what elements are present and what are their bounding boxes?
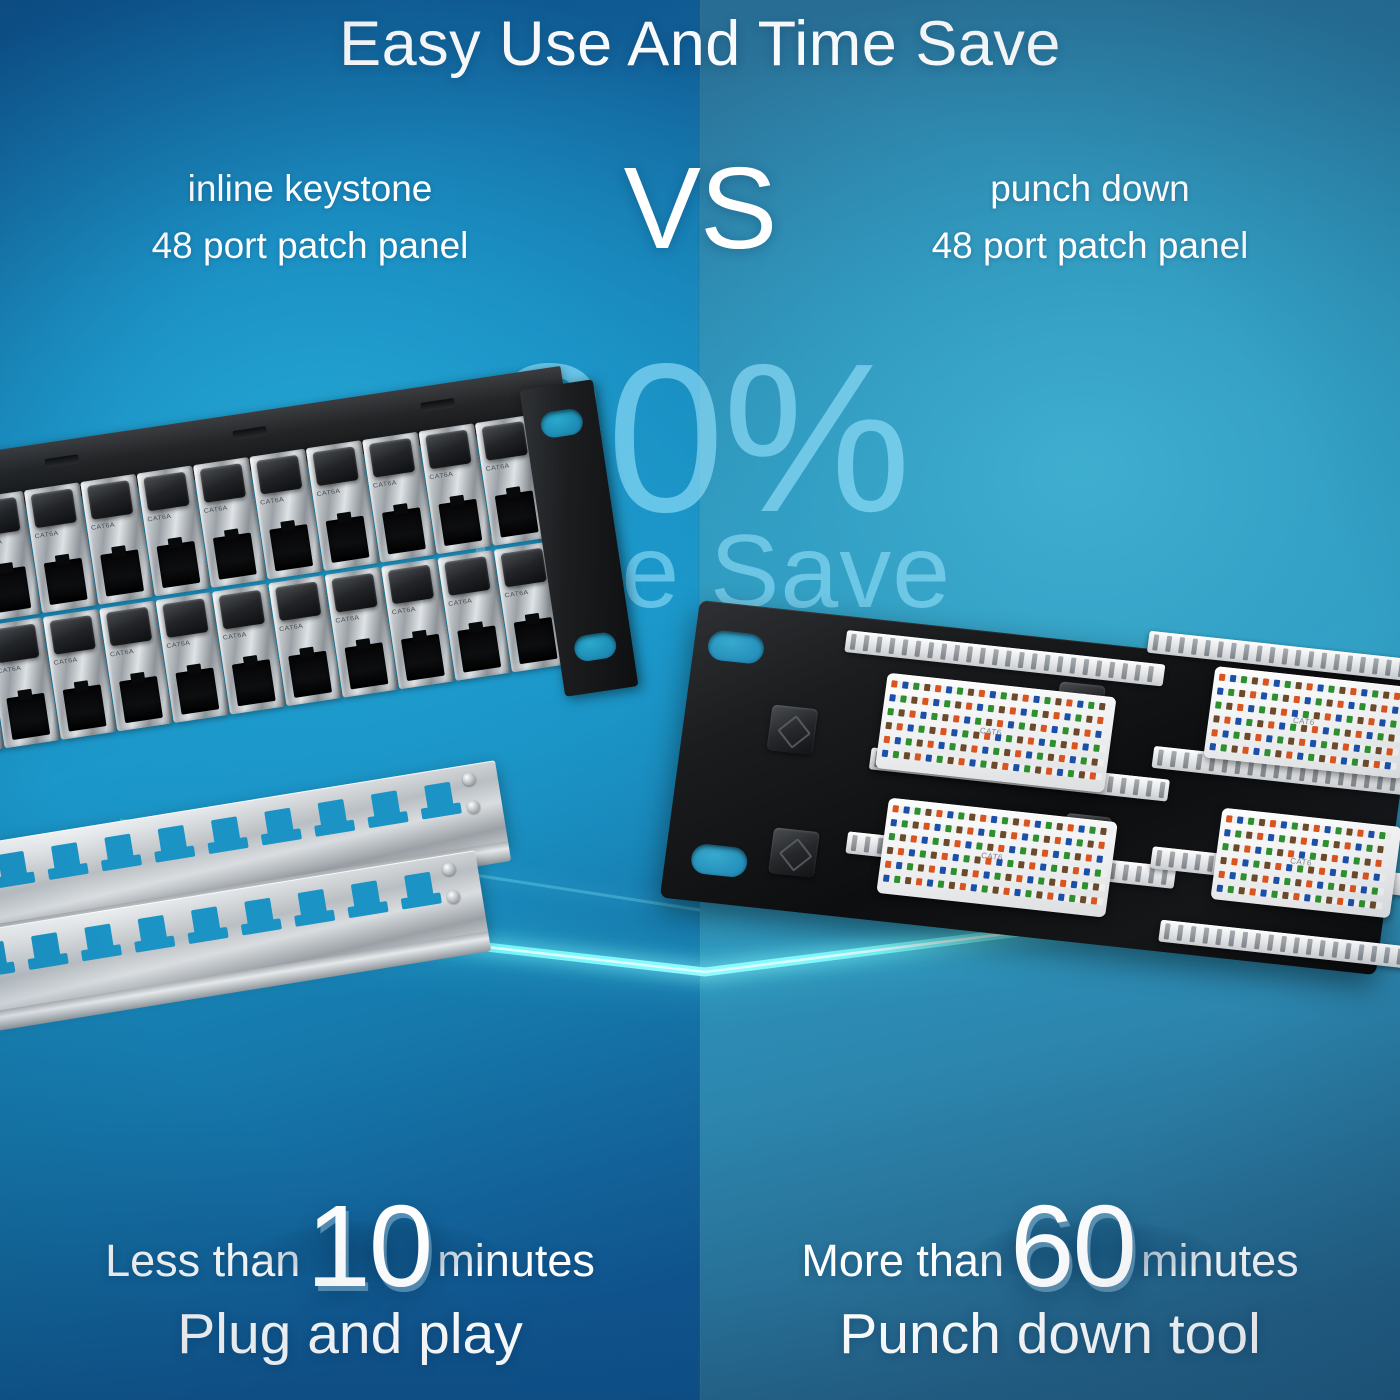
stat-right-number: 60 (1010, 1181, 1135, 1311)
rail-cutout (84, 924, 114, 958)
keystone-jack-port (100, 549, 144, 596)
keystone-jack-tab (219, 590, 266, 630)
keystone-jack-tab (388, 564, 435, 604)
rail-cutout (51, 842, 81, 876)
rail-cutout (244, 898, 274, 932)
keystone-jack-port (6, 693, 50, 740)
keystone-jack-port (495, 490, 539, 537)
keystone-jack-tab (0, 623, 40, 663)
page-title: Easy Use And Time Save (0, 8, 1400, 80)
keystone-jack-port (438, 499, 482, 546)
keystone-jack-port (157, 541, 201, 588)
keystone-jack-port (288, 651, 332, 698)
keystone-jack-tab (162, 598, 209, 638)
right-product-label-line1: punch down (810, 160, 1370, 217)
keystone-jack-port (326, 516, 370, 563)
keystone-jack-port (345, 642, 389, 689)
rail-cutout (138, 915, 168, 949)
keystone-jack-tab (31, 488, 78, 528)
rail-edge (0, 931, 491, 1053)
keystone-jack-tab (312, 446, 359, 486)
punch-down-panel-body: CAT6CAT6CAT6CAT6 (660, 600, 1400, 975)
rail-cutout (317, 799, 347, 833)
keystone-jack-port (232, 659, 276, 706)
left-product-label-line1: inline keystone (30, 160, 590, 217)
left-product-label-line2: 48 port patch panel (30, 217, 590, 274)
product-image-punch-down-panel: CAT6CAT6CAT6CAT6 (700, 600, 1400, 960)
keystone-jack-port (269, 524, 313, 571)
stat-block-right: More than 60 minutes Punch down tool (700, 1185, 1400, 1385)
stat-right-time-line: More than 60 minutes (700, 1185, 1400, 1287)
rail-cutout (297, 889, 327, 923)
rail-cutout (0, 851, 28, 885)
product-image-inline-keystone-panel: CAT6ACAT6ACAT6ACAT6ACAT6ACAT6ACAT6ACAT6A… (0, 470, 720, 1160)
keystone-jack-port (176, 668, 220, 715)
keystone-jack-port (401, 634, 445, 681)
rail-cutout (31, 932, 61, 966)
rail-screw (462, 772, 477, 787)
keystone-jack-tab (143, 472, 190, 512)
keystone-jack-port (457, 625, 501, 672)
rack-mount-slot (706, 629, 766, 665)
right-product-label: punch down 48 port patch panel (810, 160, 1370, 275)
keystone-jack-port (44, 558, 88, 605)
cable-clip (766, 704, 818, 755)
keystone-jack-tab (49, 615, 96, 655)
rail-screw (442, 862, 457, 877)
keystone-jack-tab (200, 463, 247, 503)
vs-label: VS (600, 150, 800, 266)
left-product-label: inline keystone 48 port patch panel (30, 160, 590, 275)
keystone-jack-tab (444, 556, 491, 596)
stat-left-number: 10 (306, 1181, 431, 1311)
rack-mount-slot (689, 843, 749, 879)
keystone-jack-tab (256, 455, 303, 495)
rail-cutout (0, 941, 8, 975)
keystone-jack-tab (331, 573, 378, 613)
keystone-jack-tab (425, 429, 472, 469)
rail-cutout (404, 872, 434, 906)
rack-mount-slot (539, 407, 584, 439)
keystone-jack-port (382, 507, 426, 554)
right-product-label-line2: 48 port patch panel (810, 217, 1370, 274)
rail-screw (466, 799, 481, 814)
keystone-jack-tab (87, 480, 134, 520)
rail-cutout (191, 906, 221, 940)
infographic-canvas: 80% Time Save (0, 0, 1400, 1400)
rail-cutout (211, 816, 241, 850)
stat-right-prefix: More than (801, 1235, 1004, 1287)
stat-left-time-line: Less than 10 minutes (0, 1185, 700, 1287)
keystone-jack-port (514, 617, 558, 664)
keystone-jack-tab (482, 421, 529, 461)
rail-cutout (371, 790, 401, 824)
rack-mount-slot (573, 631, 618, 663)
rail-screw (446, 889, 461, 904)
keystone-jack-port (213, 533, 257, 580)
keystone-jack-tab (275, 581, 322, 621)
keystone-jack-tab (106, 607, 153, 647)
keystone-jack-port (119, 676, 163, 723)
rail-cutout (351, 880, 381, 914)
cable-clip (768, 827, 820, 878)
rail-cutout (104, 834, 134, 868)
rail-cutout (264, 808, 294, 842)
stat-block-left: Less than 10 minutes Plug and play (0, 1185, 700, 1385)
rail-cutout (424, 782, 454, 816)
idc-termination-block: CAT6 (1210, 808, 1400, 919)
keystone-jack-tab (369, 438, 416, 478)
keystone-jack-port (63, 684, 107, 731)
rail-cutout (158, 825, 188, 859)
keystone-jack-tab (500, 548, 547, 588)
